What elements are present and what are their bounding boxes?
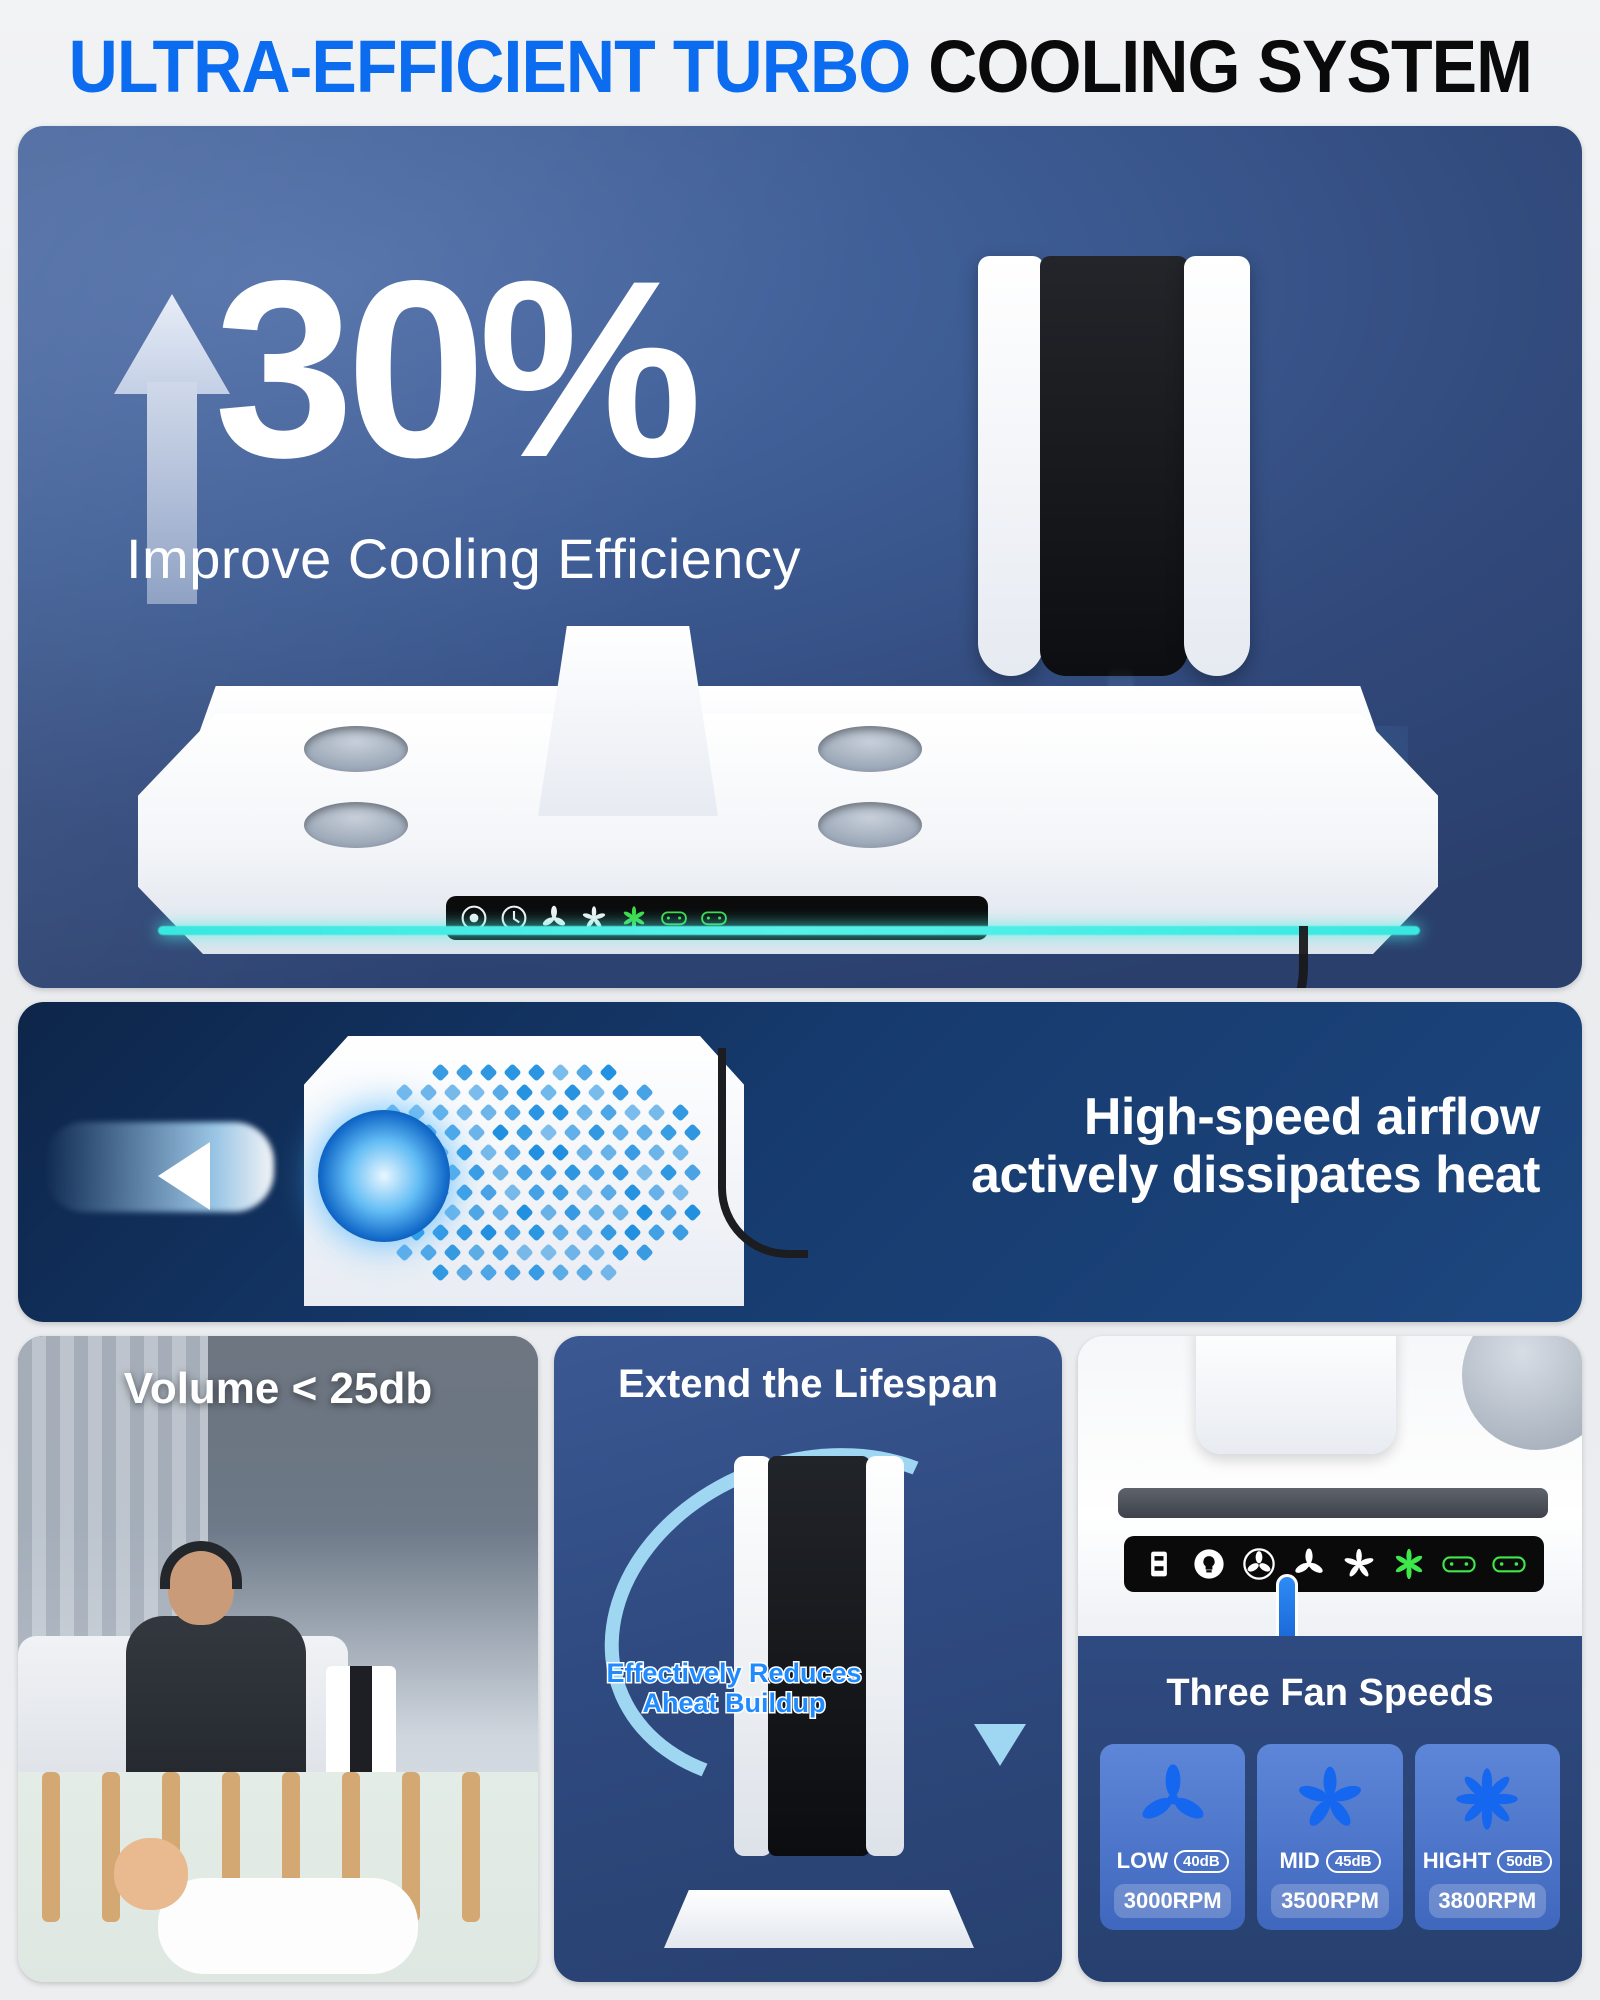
fan-blade-glow — [318, 1110, 450, 1242]
caption-line-1: Effectively Reduces — [604, 1658, 864, 1688]
fan-mid-icon[interactable] — [1341, 1546, 1377, 1582]
fan-speed-label-row: LOW 40dB — [1100, 1848, 1245, 1874]
down-arrow-icon — [974, 1724, 1026, 1766]
console-cradle — [1196, 1336, 1396, 1454]
pointing-finger — [1276, 1574, 1298, 1636]
airflow-line-1: High-speed airflow — [920, 1088, 1540, 1146]
fan-speed-rpm: 3500RPM — [1271, 1884, 1388, 1918]
control-strip[interactable] — [1124, 1536, 1544, 1592]
title-blue-part: ULTRA-EFFICIENT TURBO — [68, 25, 910, 108]
wind-arrow-head — [158, 1142, 210, 1210]
fan-speeds-section: Three Fan Speeds LOW 40dB 3000RPM — [1078, 1636, 1582, 1982]
console-center — [1040, 256, 1188, 676]
console-right-panel — [1184, 256, 1250, 676]
arrow-head — [114, 294, 230, 394]
fan-3-blade-icon — [1136, 1762, 1210, 1836]
page-title: ULTRA-EFFICIENT TURBO COOLING SYSTEM — [68, 24, 1531, 109]
fan-speed-label: MID — [1279, 1848, 1319, 1874]
headset-slot — [818, 802, 922, 848]
title-black-part: COOLING SYSTEM — [928, 25, 1532, 108]
console-center — [768, 1456, 870, 1856]
fan-speeds-panel: Three Fan Speeds LOW 40dB 3000RPM — [1078, 1336, 1582, 1982]
dock-closeup-photo — [1078, 1336, 1582, 1636]
fan-high-icon[interactable] — [1391, 1546, 1427, 1582]
headset-slot — [304, 802, 408, 848]
touch-hand-icon — [1260, 1564, 1314, 1636]
baby-head — [114, 1838, 188, 1910]
console-left-panel — [734, 1456, 772, 1856]
fan-speed-label: LOW — [1117, 1848, 1168, 1874]
fan-8-blade-icon — [1450, 1762, 1524, 1836]
fan-speed-label: HIGHT — [1423, 1848, 1491, 1874]
crib-rail — [462, 1772, 480, 1922]
usb-cable-icon — [978, 926, 1308, 988]
headset-slot — [818, 726, 922, 772]
console-right-panel — [866, 1456, 904, 1856]
fan-speed-label-row: MID 45dB — [1257, 1848, 1402, 1874]
fan-speed-card[interactable]: MID 45dB 3500RPM — [1257, 1744, 1402, 1930]
airflow-heading: High-speed airflow actively dissipates h… — [920, 1088, 1540, 1204]
ps5-console-icon — [734, 1456, 904, 1856]
fan-speed-db: 50dB — [1497, 1850, 1552, 1873]
console-left-panel — [978, 256, 1044, 676]
fan-speed-db: 45dB — [1326, 1850, 1381, 1873]
airflow-line-2: actively dissipates heat — [920, 1146, 1540, 1204]
page-header: ULTRA-EFFICIENT TURBO COOLING SYSTEM — [0, 0, 1600, 118]
sleeping-baby — [158, 1878, 418, 1974]
headset-slot — [304, 726, 408, 772]
fan-speed-db: 40dB — [1174, 1850, 1229, 1873]
cooling-dock-icon — [664, 1890, 974, 1948]
usb-c-cable-icon — [718, 1048, 808, 1258]
controller-icon[interactable] — [1441, 1546, 1477, 1582]
usb-port-icon[interactable] — [1141, 1546, 1177, 1582]
fan-speeds-title: Three Fan Speeds — [1166, 1672, 1493, 1715]
crib-rail — [42, 1772, 60, 1922]
efficiency-percent: 30% — [214, 244, 694, 496]
efficiency-subtitle: Improve Cooling Efficiency — [126, 526, 801, 591]
fan-speed-cards: LOW 40dB 3000RPM MID — [1100, 1744, 1560, 1930]
noise-panel: Volume < 25db — [18, 1336, 538, 1982]
fan-speed-rpm: 3800RPM — [1429, 1884, 1546, 1918]
controller-dock-riser — [538, 626, 718, 816]
fan-speed-rpm: 3000RPM — [1114, 1884, 1231, 1918]
fan-speed-label-row: HIGHT 50dB — [1415, 1848, 1560, 1874]
crib-rail — [102, 1772, 120, 1922]
fan-speed-card[interactable]: HIGHT 50dB 3800RPM — [1415, 1744, 1560, 1930]
light-bulb-icon[interactable] — [1191, 1546, 1227, 1582]
lifespan-title: Extend the Lifespan — [618, 1362, 998, 1407]
airflow-panel: High-speed airflow actively dissipates h… — [18, 1002, 1582, 1322]
lifespan-panel: Extend the Lifespan Effectively Reduces … — [554, 1336, 1062, 1982]
ps5-console-icon — [978, 256, 1250, 676]
dock-wheel — [1462, 1336, 1582, 1450]
controller-icon[interactable] — [1491, 1546, 1527, 1582]
dock-grip-bar — [1118, 1488, 1548, 1518]
hero-panel: 30% Improve Cooling Efficiency — [18, 126, 1582, 988]
noise-title: Volume < 25db — [124, 1364, 433, 1414]
fan-5-blade-icon — [1293, 1762, 1367, 1836]
fan-speed-card[interactable]: LOW 40dB 3000RPM — [1100, 1744, 1245, 1930]
caption-line-2: Aheat Buildup — [604, 1688, 864, 1718]
lifespan-caption: Effectively Reduces Aheat Buildup — [604, 1658, 864, 1718]
